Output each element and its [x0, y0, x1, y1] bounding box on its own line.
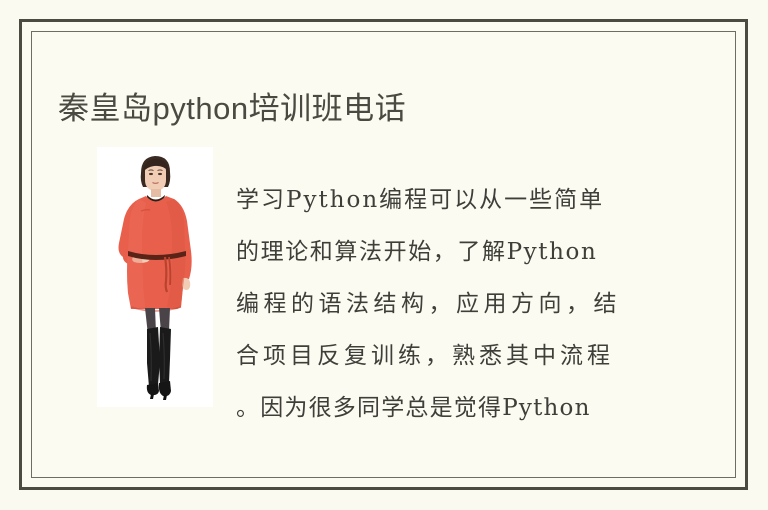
article-page: 秦皇岛python培训班电话 — [0, 0, 768, 510]
model-photo-illustration — [97, 147, 213, 407]
model-photo — [97, 147, 213, 407]
article-body-line-4: 合项目反复训练，熟悉其中流程 — [236, 330, 661, 382]
article-body: 学习Python编程可以从一些简单 的理论和算法开始，了解Python 编程的语… — [236, 174, 661, 434]
page-frame-outer: 秦皇岛python培训班电话 — [19, 19, 748, 490]
article-body-line-3: 编程的语法结构，应用方向，结 — [236, 278, 661, 330]
article-content: 学习Python编程可以从一些简单 的理论和算法开始，了解Python 编程的语… — [31, 114, 736, 478]
article-body-line-2: 的理论和算法开始，了解Python — [236, 226, 661, 278]
article-body-line-5: 。因为很多同学总是觉得Python — [236, 382, 661, 434]
article-body-line-1: 学习Python编程可以从一些简单 — [236, 174, 661, 226]
